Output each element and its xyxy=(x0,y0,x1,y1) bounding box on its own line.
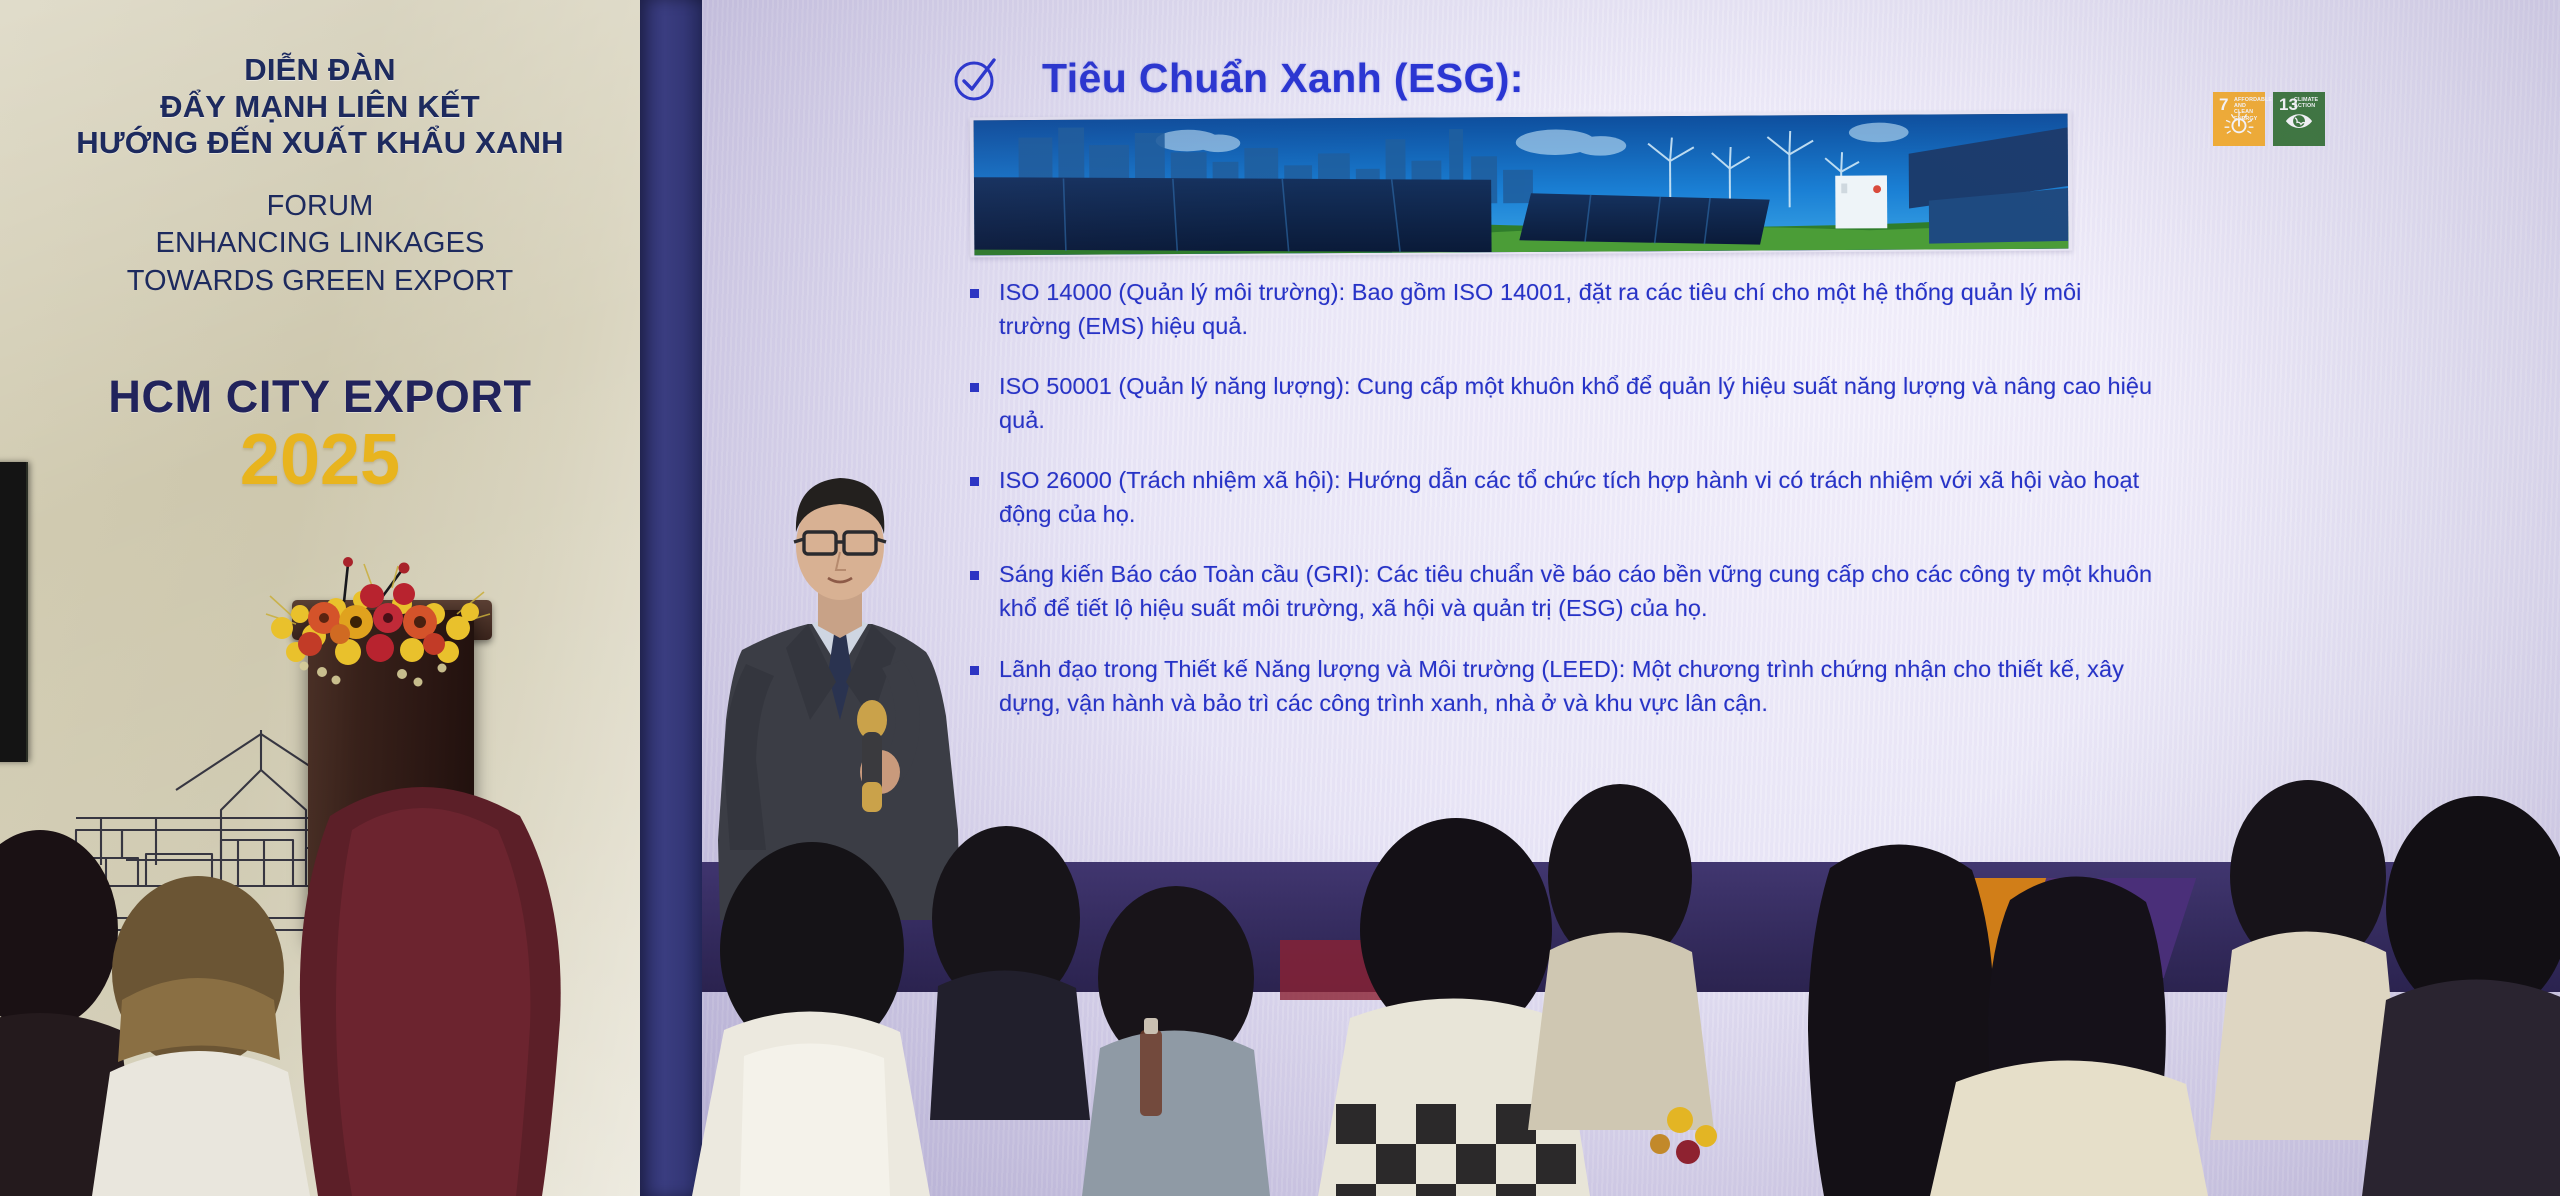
sdg-badge-7: 7 AFFORDABLE AND CLEAN ENERGY xyxy=(2213,92,2265,146)
banner-english-title: FORUM ENHANCING LINKAGES TOWARDS GREEN E… xyxy=(0,188,640,301)
podium-flower-arrangement xyxy=(252,556,502,706)
slide-bullet-item: ISO 14000 (Quản lý môi trường): Bao gồm … xyxy=(970,275,2155,343)
slide-bullet-item: Sáng kiến Báo cáo Toàn cầu (GRI): Các ti… xyxy=(970,557,2155,625)
banner-en-line-2: ENHANCING LINKAGES xyxy=(0,225,640,263)
slide-bullet-item: ISO 50001 (Quản lý năng lượng): Cung cấp… xyxy=(970,369,2155,437)
slide-title: Tiêu Chuẩn Xanh (ESG): xyxy=(1042,55,1524,102)
audience-shoulders xyxy=(2362,979,2560,1196)
banner-en-line-1: FORUM xyxy=(0,188,640,226)
audience-head xyxy=(0,830,118,1030)
banner-vn-line-3: HƯỚNG ĐẾN XUẤT KHẨU XANH xyxy=(0,125,640,162)
bullet-text: ISO 14000 (Quản lý môi trường): Bao gồm … xyxy=(999,275,2155,343)
sdg-badge-row: 7 AFFORDABLE AND CLEAN ENERGY 13 CLIMATE… xyxy=(2213,92,2325,146)
slide-title-row: Tiêu Chuẩn Xanh (ESG): xyxy=(950,52,1524,104)
audience-shoulders-white-shirt xyxy=(92,1051,310,1196)
audience-shoulders xyxy=(1930,1060,2208,1196)
bullet-text: ISO 50001 (Quản lý năng lượng): Cung cấp… xyxy=(999,369,2155,437)
conference-scene: DIỄN ĐÀN ĐẨY MẠNH LIÊN KẾT HƯỚNG ĐẾN XUẤ… xyxy=(0,0,2560,1196)
banner-vn-line-2: ĐẨY MẠNH LIÊN KẾT xyxy=(0,89,640,126)
solar-farm-illustration xyxy=(974,114,2069,256)
bullet-text: ISO 26000 (Trách nhiệm xã hội): Hướng dẫ… xyxy=(999,463,2155,531)
banner-year: 2025 xyxy=(0,425,640,496)
water-bottle xyxy=(1140,1018,1162,1116)
banner-vietnamese-title: DIỄN ĐÀN ĐẨY MẠNH LIÊN KẾT HƯỚNG ĐẾN XUẤ… xyxy=(0,52,640,162)
slide-bullet-item: ISO 26000 (Trách nhiệm xã hội): Hướng dẫ… xyxy=(970,463,2155,531)
audience-shoulders xyxy=(1082,1030,1270,1196)
sun-power-icon xyxy=(2213,106,2265,144)
banner-vn-line-1: DIỄN ĐÀN xyxy=(0,52,640,89)
bullet-text: Sáng kiến Báo cáo Toàn cầu (GRI): Các ti… xyxy=(999,557,2155,625)
bullet-marker-icon xyxy=(970,289,979,298)
audience-shoulders xyxy=(930,970,1090,1120)
eye-globe-icon xyxy=(2273,108,2325,142)
banner-text-block: DIỄN ĐÀN ĐẨY MẠNH LIÊN KẾT HƯỚNG ĐẾN XUẤ… xyxy=(0,0,640,495)
audience-shoulders xyxy=(1528,932,1714,1130)
bullet-marker-icon xyxy=(970,383,979,392)
slide-hero-image xyxy=(970,111,2073,258)
check-circle-icon xyxy=(950,52,1002,104)
audience-foreground xyxy=(0,700,2560,1196)
slide-bullet-list: ISO 14000 (Quản lý môi trường): Bao gồm … xyxy=(970,275,2155,746)
banner-event-name: HCM CITY EXPORT xyxy=(0,371,640,423)
sdg-badge-13: 13 CLIMATE ACTION xyxy=(2273,92,2325,146)
hero-image-inner xyxy=(974,114,2069,256)
banner-en-line-3: TOWARDS GREEN EXPORT xyxy=(0,263,640,301)
